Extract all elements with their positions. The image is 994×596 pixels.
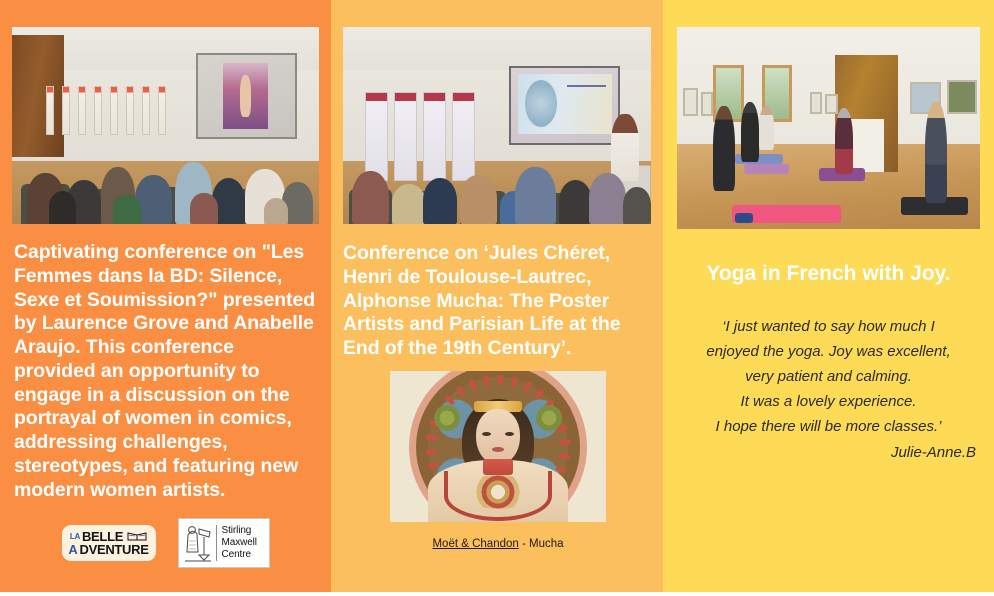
artwork-caption-rest: - Mucha: [519, 538, 564, 550]
smc-line-3: Centre: [222, 549, 251, 560]
participant: [835, 108, 853, 175]
yoga-hall-scene: [677, 27, 980, 229]
figure-face: [476, 409, 520, 465]
framed-picture: [810, 92, 822, 114]
mucha-poster-image: [390, 371, 606, 522]
bottom-strip: [0, 592, 994, 596]
framed-picture: [683, 88, 698, 116]
seated-audience: [343, 114, 651, 224]
framed-picture: [825, 94, 837, 114]
participant: [741, 102, 759, 163]
column-poster-artists-conference: Conference on ‘Jules Chéret, Henri de To…: [331, 0, 663, 592]
logo-la-belle-adventure[interactable]: LA BELLE A DVENTURE: [62, 525, 156, 561]
logo-stirling-maxwell-centre[interactable]: Stirling Maxwell Centre: [178, 518, 270, 568]
logo-smc-text: Stirling Maxwell Centre: [222, 525, 257, 562]
partner-logos: LA BELLE A DVENTURE: [0, 518, 331, 568]
leaf-ornament-right: [536, 405, 562, 431]
yoga-mat-purple: [744, 164, 789, 174]
poster-artists-conference-body: Conference on ‘Jules Chéret, Henri de To…: [343, 242, 649, 361]
yoga-heading: Yoga in French with Joy.: [685, 260, 972, 287]
instructor: [925, 102, 946, 203]
mucha-artwork-block: Moët & Chandon - Mucha: [390, 371, 606, 550]
photo-comics-conference: [12, 27, 319, 224]
quote-line: ‘I just wanted to say how much I: [722, 318, 935, 335]
quote-line: very patient and calming.: [745, 368, 912, 385]
quote-line: enjoyed the yoga. Joy was excellent,: [706, 343, 950, 360]
open-book-icon: [127, 532, 147, 541]
logo-belle-a: A: [68, 543, 77, 556]
column-yoga-in-french: Yoga in French with Joy. ‘I just wanted …: [663, 0, 994, 592]
lecture-room-scene: [343, 27, 651, 224]
quote-line: I hope there will be more classes.’: [716, 418, 942, 435]
participant: [759, 106, 774, 150]
smc-line-2: Maxwell: [222, 537, 257, 548]
framed-picture: [701, 92, 713, 116]
newsletter-page: Captivating conference on "Les Femmes da…: [0, 0, 994, 596]
lectern-engraving-icon: [179, 521, 215, 565]
quote-line: It was a lovely experience.: [741, 393, 917, 410]
column-comics-conference: Captivating conference on "Les Femmes da…: [0, 0, 331, 592]
conference-room-scene: [12, 27, 319, 224]
yoga-testimonial: ‘I just wanted to say how much I enjoyed…: [675, 314, 982, 464]
framed-painting: [947, 80, 977, 114]
photo-poster-artists-conference: [343, 27, 651, 224]
figure-jewelled-necklace: [463, 475, 533, 509]
yoga-block: [735, 213, 753, 223]
seated-audience: [12, 114, 319, 224]
participant: [713, 106, 734, 191]
comics-conference-body: Captivating conference on "Les Femmes da…: [14, 241, 317, 503]
smc-line-1: Stirling: [222, 525, 252, 536]
logo-belle-dventure: DVENTURE: [79, 543, 148, 556]
artwork-caption: Moët & Chandon - Mucha: [390, 538, 606, 550]
logo-belle-la: LA: [70, 533, 80, 541]
leaf-ornament-left: [434, 405, 460, 431]
photo-yoga-class: [677, 27, 980, 229]
figure-collar: [483, 459, 513, 475]
artwork-caption-link[interactable]: Moët & Chandon: [432, 538, 518, 550]
logo-divider: [216, 525, 217, 561]
quote-signature: Julie-Anne.B: [675, 440, 976, 465]
